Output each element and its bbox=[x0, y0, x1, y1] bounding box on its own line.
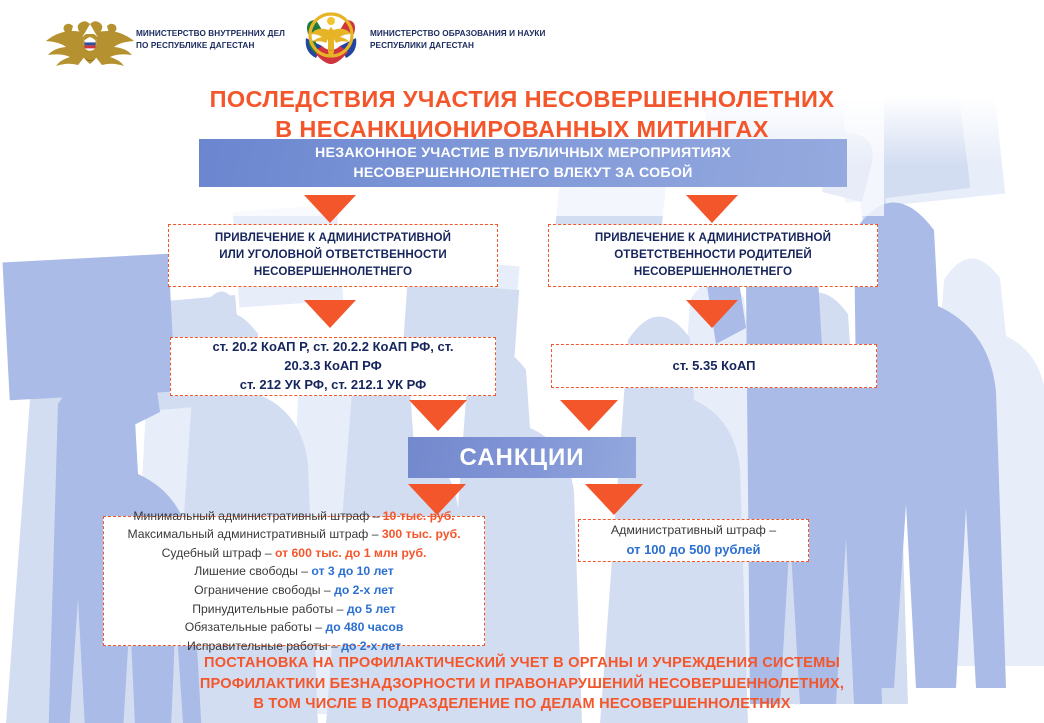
sanction-row: Минимальный административный штраф – 10 … bbox=[133, 507, 454, 526]
ministry-mvd-line2: ПО РЕСПУБЛИКЕ ДАГЕСТАН bbox=[136, 41, 254, 50]
consequence-box-minor: ПРИВЛЕЧЕНИЕ К АДМИНИСТРАТИВНОЙ ИЛИ УГОЛО… bbox=[168, 224, 498, 287]
consequence-parents-line1: ПРИВЛЕЧЕНИЕ К АДМИНИСТРАТИВНОЙ bbox=[595, 230, 831, 247]
arrow-banner-to-parents bbox=[686, 195, 738, 223]
consequence-minor-line3: НЕСОВЕРШЕННОЛЕТНЕГО bbox=[215, 264, 451, 281]
intro-banner-line1: НЕЗАКОННОЕ УЧАСТИЕ В ПУБЛИЧНЫХ МЕРОПРИЯТ… bbox=[315, 143, 731, 163]
footer-note: ПОСТАНОВКА НА ПРОФИЛАКТИЧЕСКИЙ УЧЕТ В ОР… bbox=[0, 653, 1044, 715]
ministry-label-mvd: МИНИСТЕРСТВО ВНУТРЕННИХ ДЕЛПО РЕСПУБЛИКЕ… bbox=[136, 28, 285, 52]
sanctions-banner-label: САНКЦИИ bbox=[459, 444, 584, 472]
ministry-education-line2: РЕСПУБЛИКИ ДАГЕСТАН bbox=[370, 41, 474, 50]
consequence-parents-line3: НЕСОВЕРШЕННОЛЕТНЕГО bbox=[595, 264, 831, 281]
sanction-label: Принудительные работы – bbox=[192, 602, 347, 616]
russian-mvd-double-headed-eagle-emblem bbox=[42, 16, 138, 66]
articles-minor-line3: ст. 212 УК РФ, ст. 212.1 УК РФ bbox=[212, 376, 453, 395]
arrow-articles-minor-to-sanctions bbox=[409, 400, 467, 431]
ministry-education-line1: МИНИСТЕРСТВО ОБРАЗОВАНИЯ И НАУКИ bbox=[370, 29, 546, 38]
arrow-parents-to-articles bbox=[686, 300, 738, 328]
consequence-parents-line2: ОТВЕТСТВЕННОСТИ РОДИТЕЛЕЙ bbox=[595, 247, 831, 264]
sanction-label: Исправительные работы – bbox=[187, 639, 341, 653]
sanction-value: до 2-х лет bbox=[334, 583, 394, 597]
sanction-label: Лишение свободы – bbox=[194, 564, 311, 578]
sanction-value: от 600 тыс. до 1 млн руб. bbox=[275, 546, 426, 560]
sanction-row: Лишение свободы – от 3 до 10 лет bbox=[194, 562, 394, 581]
footer-line1: ПОСТАНОВКА НА ПРОФИЛАКТИЧЕСКИЙ УЧЕТ В ОР… bbox=[0, 653, 1044, 674]
sanction-row: Судебный штраф – от 600 тыс. до 1 млн ру… bbox=[162, 544, 427, 563]
sanction-value: до 5 лет bbox=[347, 602, 396, 616]
sanction-value: от 3 до 10 лет bbox=[311, 564, 393, 578]
sanction-label: Максимальный административный штраф – bbox=[128, 527, 382, 541]
parent-fine-line1: Административный штраф – bbox=[611, 521, 776, 540]
dagestan-coat-of-arms-emblem bbox=[300, 8, 362, 66]
footer-line3: В ТОМ ЧИСЛЕ В ПОДРАЗДЕЛЕНИЕ ПО ДЕЛАМ НЕС… bbox=[0, 694, 1044, 715]
parent-fine-line2: от 100 до 500 рублей bbox=[611, 540, 776, 560]
sanction-value: 10 тыс. руб. bbox=[383, 509, 455, 523]
poster-header: МИНИСТЕРСТВО ВНУТРЕННИХ ДЕЛПО РЕСПУБЛИКЕ… bbox=[0, 0, 1044, 70]
articles-parents-line1: ст. 5.35 КоАП bbox=[672, 357, 755, 376]
articles-minor-line1: ст. 20.2 КоАП Р, ст. 20.2.2 КоАП РФ, ст. bbox=[212, 338, 453, 357]
articles-box-minor: ст. 20.2 КоАП Р, ст. 20.2.2 КоАП РФ, ст.… bbox=[170, 337, 496, 396]
sanctions-banner: САНКЦИИ bbox=[408, 437, 636, 478]
arrow-minor-to-articles bbox=[304, 300, 356, 328]
consequence-minor-line2: ИЛИ УГОЛОВНОЙ ОТВЕТСТВЕННОСТИ bbox=[215, 247, 451, 264]
footer-line2: ПРОФИЛАКТИКИ БЕЗНАДЗОРНОСТИ И ПРАВОНАРУШ… bbox=[0, 674, 1044, 695]
sanction-label: Судебный штраф – bbox=[162, 546, 275, 560]
sanctions-list-minor: Минимальный административный штраф – 10 … bbox=[103, 516, 485, 646]
intro-banner: НЕЗАКОННОЕ УЧАСТИЕ В ПУБЛИЧНЫХ МЕРОПРИЯТ… bbox=[199, 139, 847, 187]
sanction-row: Максимальный административный штраф – 30… bbox=[128, 525, 461, 544]
sanction-row: Обязательные работы – до 480 часов bbox=[185, 618, 404, 637]
consequence-box-parents: ПРИВЛЕЧЕНИЕ К АДМИНИСТРАТИВНОЙ ОТВЕТСТВЕ… bbox=[548, 224, 878, 287]
sanction-value: до 480 часов bbox=[325, 620, 403, 634]
arrow-sanctions-to-parent-fine bbox=[585, 484, 643, 515]
sanction-value: 300 тыс. руб. bbox=[382, 527, 461, 541]
intro-banner-line2: НЕСОВЕРШЕННОЛЕТНЕГО ВЛЕКУТ ЗА СОБОЙ bbox=[315, 163, 731, 183]
consequence-minor-line1: ПРИВЛЕЧЕНИЕ К АДМИНИСТРАТИВНОЙ bbox=[215, 230, 451, 247]
sanction-label: Ограничение свободы – bbox=[194, 583, 334, 597]
sanction-label: Обязательные работы – bbox=[185, 620, 326, 634]
sanctions-parent-fine: Административный штраф – от 100 до 500 р… bbox=[578, 519, 809, 562]
articles-minor-line2: 20.3.3 КоАП РФ bbox=[212, 357, 453, 376]
articles-box-parents: ст. 5.35 КоАП bbox=[551, 344, 877, 388]
arrow-articles-parents-to-sanctions bbox=[560, 400, 618, 431]
page-title: ПОСЛЕДСТВИЯ УЧАСТИЯ НЕСОВЕРШЕННОЛЕТНИХ В… bbox=[0, 84, 1044, 144]
infographic-poster: МИНИСТЕРСТВО ВНУТРЕННИХ ДЕЛПО РЕСПУБЛИКЕ… bbox=[0, 0, 1044, 723]
ministry-mvd-line1: МИНИСТЕРСТВО ВНУТРЕННИХ ДЕЛ bbox=[136, 29, 285, 38]
arrow-banner-to-minor bbox=[304, 195, 356, 223]
sanction-value: до 2-х лет bbox=[341, 639, 401, 653]
page-title-line1: ПОСЛЕДСТВИЯ УЧАСТИЯ НЕСОВЕРШЕННОЛЕТНИХ bbox=[0, 84, 1044, 114]
ministry-label-education: МИНИСТЕРСТВО ОБРАЗОВАНИЯ И НАУКИРЕСПУБЛИ… bbox=[370, 28, 546, 52]
sanction-row: Ограничение свободы – до 2-х лет bbox=[194, 581, 394, 600]
sanction-label: Минимальный административный штраф – bbox=[133, 509, 382, 523]
sanction-row: Принудительные работы – до 5 лет bbox=[192, 600, 395, 619]
